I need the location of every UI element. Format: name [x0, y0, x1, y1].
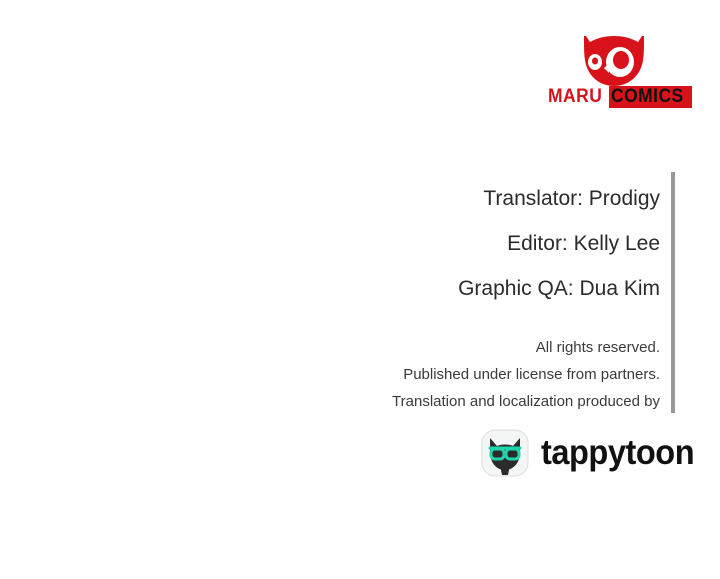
legal-block: All rights reserved. Published under lic… — [280, 334, 660, 415]
credit-line-graphic-qa: Graphic QA: Dua Kim — [300, 266, 660, 311]
tappytoon-wordmark: tappytoon — [541, 434, 694, 472]
publisher-word-maru: MARU — [548, 87, 602, 107]
credits-page: MARU COMICS Translator: Prodigy Editor: … — [0, 0, 720, 579]
vertical-divider — [671, 172, 675, 413]
tappytoon-logo: tappytoon — [481, 427, 676, 479]
legal-line-rights: All rights reserved. — [280, 334, 660, 361]
credits-block: Translator: Prodigy Editor: Kelly Lee Gr… — [300, 176, 660, 311]
credit-line-editor: Editor: Kelly Lee — [300, 221, 660, 266]
legal-line-localization: Translation and localization produced by — [280, 388, 660, 415]
publisher-wordmark: MARU COMICS — [548, 86, 680, 108]
credit-line-translator: Translator: Prodigy — [300, 176, 660, 221]
legal-line-license: Published under license from partners. — [280, 361, 660, 388]
publisher-word-comics: COMICS — [611, 87, 684, 107]
owl-head-icon — [582, 36, 646, 86]
cat-with-glasses-icon — [481, 429, 529, 477]
publisher-word-comics-block: COMICS — [609, 86, 692, 108]
publisher-logo: MARU COMICS — [548, 36, 680, 112]
